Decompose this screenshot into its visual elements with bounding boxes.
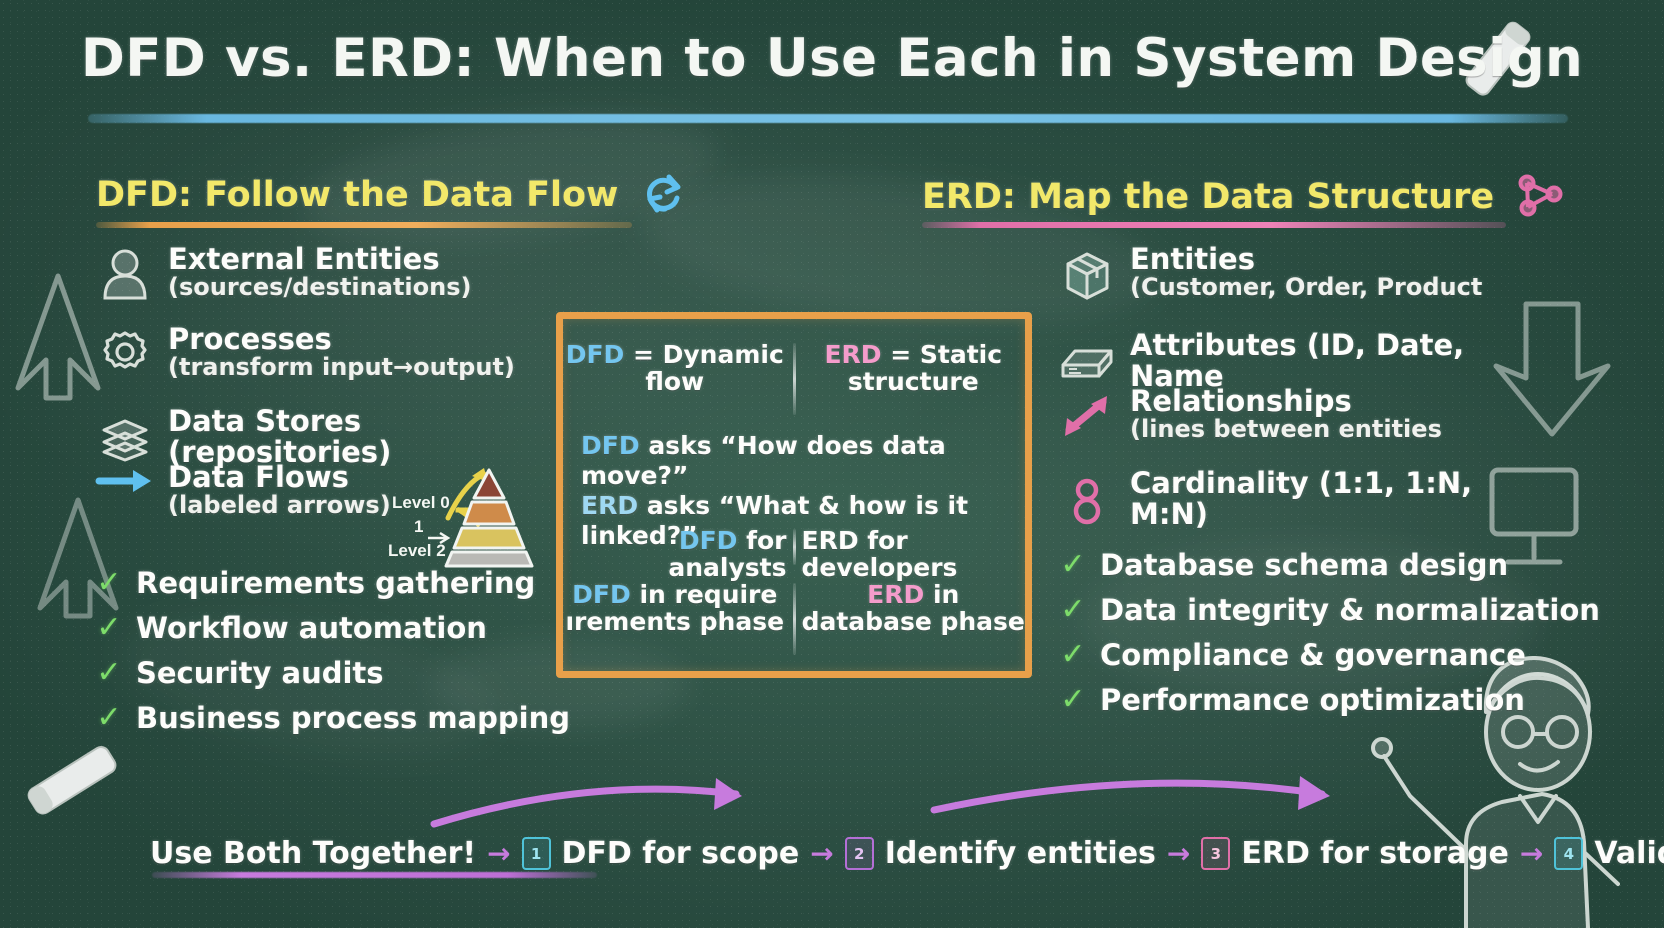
box-cube-icon [1058, 244, 1116, 302]
panel-row-3: DFD in require ırements phase ERD in dat… [563, 581, 1025, 657]
flow-underline [152, 872, 597, 878]
left-check-label: Security audits [136, 656, 384, 690]
panel-key: DFD [572, 580, 631, 609]
panel-text: = Static [882, 340, 1003, 369]
panel-text: = Dynamic [624, 340, 784, 369]
left-check-label: Requirements gathering [136, 566, 535, 600]
panel-text-2: ırements phase [563, 608, 787, 635]
panel-key: ERD [824, 340, 881, 369]
left-check-list: ✓Requirements gathering ✓Workflow automa… [96, 566, 570, 746]
check-icon: ✓ [1060, 595, 1086, 625]
right-check-label: Data integrity & normalization [1100, 593, 1600, 627]
right-check-list: ✓Database schema design ✓Data integrity … [1060, 548, 1600, 728]
left-feature-1: Processes (transform input→output) [96, 324, 556, 380]
flow-lead-label: Use Both Together! [150, 836, 476, 871]
panel-text: in [924, 580, 959, 609]
left-check-item: ✓Requirements gathering [96, 566, 570, 600]
comparison-panel: DFD = Dynamic flow ERD = Static structur… [556, 312, 1032, 678]
gear-icon [96, 324, 154, 376]
panel-row-2: DFD for analysts ERD for developers [563, 527, 1025, 581]
dfd-level-pyramid: Level 0 1 Level 2 [388, 462, 533, 567]
panel-key: ERD [581, 491, 638, 520]
check-icon: ✓ [1060, 640, 1086, 670]
panel-text-2: structure [802, 368, 1026, 395]
check-icon: ✓ [96, 613, 122, 643]
left-feature-title: External Entities [168, 244, 471, 275]
right-check-item: ✓Compliance & governance [1060, 638, 1600, 672]
right-heading-underline [922, 222, 1506, 228]
flow-step-badge-4: 4 [1554, 837, 1583, 870]
panel-row-0: DFD = Dynamic flow ERD = Static structur… [563, 341, 1025, 417]
right-feature-title: Attributes (ID, Date, Name [1130, 330, 1528, 391]
pyramid-label-1: 1 [414, 517, 423, 536]
double-arrow-icon [1058, 386, 1116, 440]
refresh-cycle-icon [643, 174, 683, 212]
flow-curve-arrow-right [930, 766, 1350, 830]
flow-step-label-4: Validate flow [1594, 836, 1664, 871]
flow-step-badge-1: 1 [522, 837, 551, 870]
panel-key: DFD [679, 526, 738, 555]
panel-text-2: database phase [802, 608, 1026, 635]
right-feature-sub: (lines between entities [1130, 417, 1442, 442]
flow-arrow-icon: → [487, 837, 510, 870]
left-feature-3: Data Flows (labeled arrows) [96, 462, 426, 518]
right-heading-text: ERD: Map the Data Structure [922, 177, 1494, 217]
check-icon: ✓ [1060, 685, 1086, 715]
bottom-flow-bar: Use Both Together! → 1 DFD for scope → 2… [150, 836, 1664, 871]
panel-text: in require [631, 580, 778, 609]
panel-divider [793, 343, 796, 415]
panel-key: ERD [802, 526, 859, 555]
blue-arrow-icon [96, 462, 154, 496]
right-check-label: Performance optimization [1100, 683, 1525, 717]
right-column-heading: ERD: Map the Data Structure [922, 174, 1562, 217]
pyramid-label-2: Level 2 [388, 541, 446, 560]
right-check-label: Database schema design [1100, 548, 1508, 582]
panel-divider [793, 529, 796, 565]
left-check-label: Business process mapping [136, 701, 570, 735]
network-graph-icon [1518, 174, 1562, 216]
right-check-item: ✓Performance optimization [1060, 683, 1600, 717]
left-column-heading: DFD: Follow the Data Flow [96, 174, 683, 215]
right-check-item: ✓Database schema design [1060, 548, 1600, 582]
left-check-item: ✓Workflow automation [96, 611, 570, 645]
left-feature-title: Processes [168, 324, 515, 355]
check-icon: ✓ [1060, 550, 1086, 580]
right-feature-title: Entities [1130, 244, 1482, 275]
left-check-item: ✓Business process mapping [96, 701, 570, 735]
panel-key: DFD [581, 431, 640, 460]
right-feature-title: Relationships [1130, 386, 1442, 417]
flow-step-badge-3: 3 [1201, 837, 1230, 870]
check-icon: ✓ [96, 703, 122, 733]
right-feature-1: Attributes (ID, Date, Name [1058, 330, 1528, 391]
left-heading-text: DFD: Follow the Data Flow [96, 175, 618, 215]
left-feature-sub: (labeled arrows) [168, 493, 391, 518]
pyramid-label-0: Level 0 [392, 493, 450, 512]
right-feature-title: Cardinality (1:1, 1:N, M:N) [1130, 468, 1538, 529]
left-feature-title: Data Flows [168, 462, 391, 493]
flow-step-label-3: ERD for storage [1241, 836, 1509, 871]
right-feature-2: Relationships (lines between entities [1058, 386, 1538, 442]
chalk-stick-icon [14, 742, 154, 872]
panel-divider [793, 583, 796, 655]
right-feature-0: Entities (Customer, Order, Product [1058, 244, 1528, 302]
left-feature-2: Data Stores (repositories) [96, 406, 566, 467]
right-check-label: Compliance & governance [1100, 638, 1526, 672]
right-check-item: ✓Data integrity & normalization [1060, 593, 1600, 627]
page-title: DFD vs. ERD: When to Use Each in System … [0, 28, 1664, 89]
chalkboard-infographic: DFD vs. ERD: When to Use Each in System … [0, 0, 1664, 928]
left-feature-title: Data Stores (repositories) [168, 406, 566, 467]
panel-key: DFD [566, 340, 625, 369]
flow-arrow-icon: → [810, 837, 833, 870]
left-feature-sub: (transform input→output) [168, 355, 515, 380]
flow-arrow-icon: → [1167, 837, 1190, 870]
left-check-label: Workflow automation [136, 611, 487, 645]
flow-step-label-1: DFD for scope [562, 836, 800, 871]
right-feature-3: Cardinality (1:1, 1:N, M:N) [1058, 468, 1538, 529]
left-heading-underline [96, 222, 632, 228]
user-person-icon [96, 244, 154, 300]
flow-step-badge-2: 2 [845, 837, 874, 870]
flow-step-label-2: Identify entities [885, 836, 1156, 871]
title-underline [88, 114, 1568, 123]
panel-key: ERD [867, 580, 924, 609]
left-feature-0: External Entities (sources/destinations) [96, 244, 536, 300]
right-feature-sub: (Customer, Order, Product [1130, 275, 1482, 300]
layers-stack-icon [96, 414, 154, 460]
left-check-item: ✓Security audits [96, 656, 570, 690]
flow-arrow-icon: → [1520, 837, 1543, 870]
check-icon: ✓ [96, 568, 122, 598]
tag-block-icon [1058, 339, 1116, 383]
panel-text-2: flow [563, 368, 787, 395]
flow-curve-arrow-left [430, 772, 760, 832]
check-icon: ✓ [96, 658, 122, 688]
left-feature-sub: (sources/destinations) [168, 275, 471, 300]
cardinality-icon [1058, 473, 1116, 525]
